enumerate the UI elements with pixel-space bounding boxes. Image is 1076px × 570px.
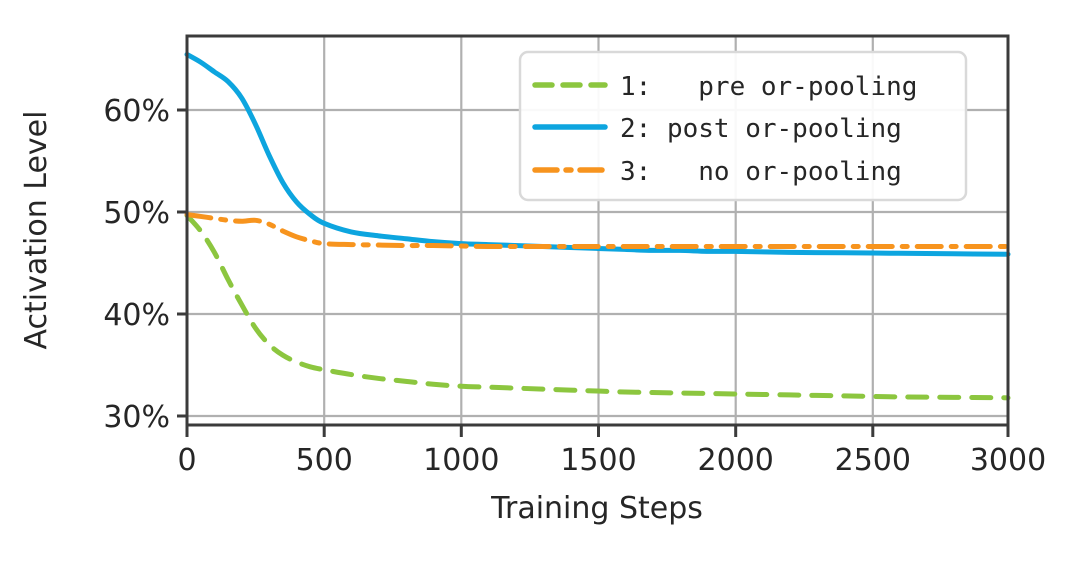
xtick-label-2500: 2500 <box>835 443 911 478</box>
line-chart: 60% 50% 40% 30% 0 500 1000 1500 2000 250… <box>0 0 1076 570</box>
xtick-label-3000: 3000 <box>970 443 1046 478</box>
y-axis-title: Activation Level <box>19 111 54 350</box>
x-tickmarks <box>187 425 1008 437</box>
legend-label-3: 3: no or-pooling <box>620 157 902 187</box>
xtick-label-1000: 1000 <box>423 443 499 478</box>
ytick-label-40: 40% <box>103 298 170 333</box>
legend: 1: pre or-pooling 2: post or-pooling 3: … <box>520 52 966 200</box>
xtick-label-1500: 1500 <box>560 443 636 478</box>
xtick-label-2000: 2000 <box>698 443 774 478</box>
x-axis-title: Training Steps <box>490 491 703 526</box>
xtick-label-500: 500 <box>296 443 353 478</box>
x-tick-labels: 0 500 1000 1500 2000 2500 3000 <box>177 443 1046 478</box>
chart-figure: 60% 50% 40% 30% 0 500 1000 1500 2000 250… <box>0 0 1076 570</box>
legend-label-1: 1: pre or-pooling <box>620 72 917 102</box>
xtick-label-0: 0 <box>177 443 196 478</box>
ytick-label-60: 60% <box>103 94 170 129</box>
ytick-label-30: 30% <box>103 400 170 435</box>
ytick-label-50: 50% <box>103 196 170 231</box>
y-tick-labels: 60% 50% 40% 30% <box>103 94 170 435</box>
legend-label-2: 2: post or-pooling <box>620 114 902 144</box>
